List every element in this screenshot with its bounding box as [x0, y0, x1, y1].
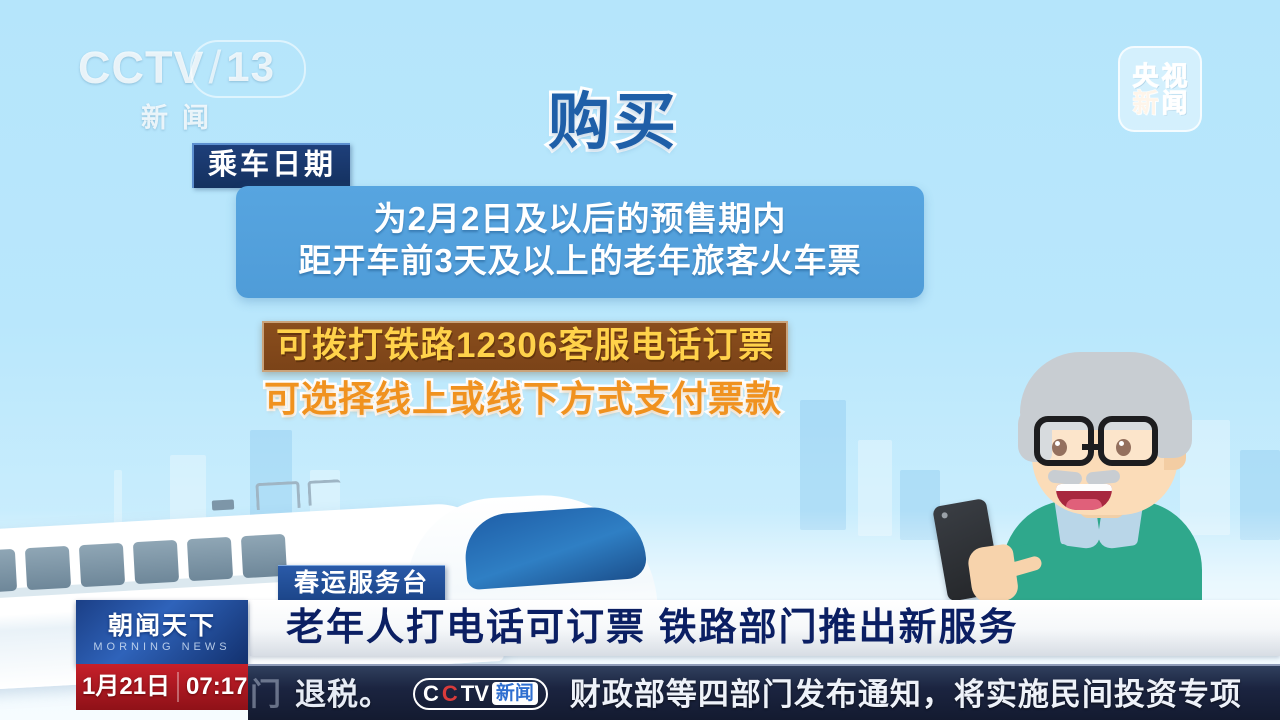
- headline-bar: 老年人打电话可订票 铁路部门推出新服务: [250, 600, 1280, 656]
- ticker-logo-c1: C: [423, 683, 439, 705]
- train-window: [133, 540, 179, 584]
- watermark-line-2: 新 闻: [1132, 90, 1187, 116]
- ticker-logo-c2: C: [442, 683, 458, 705]
- cctv13-slash-icon: /: [209, 44, 223, 90]
- elderly-man-illustration: [940, 345, 1240, 610]
- cctv13-logo: CCTV / 13 新闻: [78, 44, 278, 142]
- glasses-icon: [1034, 416, 1094, 466]
- glasses-icon: [1098, 416, 1158, 466]
- cctv-news-watermark: 央 视 新 闻: [1118, 46, 1202, 132]
- headline-text: 老年人打电话可订票 铁路部门推出新服务: [250, 609, 1019, 647]
- train-window: [79, 543, 125, 587]
- ticker-partial-char: 门: [248, 679, 281, 710]
- ticker-logo-tv: TV: [461, 683, 489, 705]
- segment-badge: 春运服务台: [278, 565, 445, 603]
- broadcast-time: 07:17: [186, 675, 247, 699]
- cctv-wordmark: CCTV: [78, 45, 205, 90]
- ticker-logo-news-cn: 新闻: [492, 682, 538, 705]
- cctv13-sub-label: 新闻: [78, 96, 278, 135]
- program-logo: 朝闻天下 MORNING NEWS: [76, 600, 248, 666]
- train-pantograph: [307, 479, 341, 506]
- train-roof-box: [212, 499, 234, 510]
- cctv13-logo-pill: [190, 40, 306, 98]
- hotline-highlight-bar: 可拨打铁路12306客服电话订票: [262, 321, 788, 372]
- graphic-big-title: 购买: [548, 92, 680, 154]
- train-window: [187, 537, 233, 581]
- ticker-prefix-text: 退税。: [281, 679, 391, 710]
- broadcast-screen: CCTV / 13 新闻 央 视 新 闻 购买 乘车日期 为2月2日及以后的预售…: [0, 0, 1280, 720]
- datetime-separator: [177, 672, 179, 702]
- train-window: [25, 546, 71, 590]
- ticker-cctv-news-logo: C C TV 新闻: [413, 678, 548, 710]
- ticker-body-text: 财政部等四部门发布通知，将实施民间投资专项: [570, 679, 1242, 710]
- broadcast-date: 1月21日: [76, 675, 170, 699]
- train-windshield: [463, 504, 648, 590]
- train-window: [0, 549, 17, 593]
- watermark-char-wen: 闻: [1162, 90, 1188, 116]
- program-name-cn: 朝闻天下: [108, 614, 216, 639]
- watermark-char-yang: 央: [1132, 63, 1158, 89]
- news-ticker: 门 退税。 C C TV 新闻 财政部等四部门发布通知，将实施民间投资专项: [248, 664, 1280, 720]
- info-panel-line-1: 为2月2日及以后的预售期内: [256, 198, 904, 240]
- payment-highlight-text: 可选择线上或线下方式支付票款: [264, 381, 782, 417]
- datetime-bar: 1月21日 07:17: [76, 664, 248, 710]
- travel-date-badge: 乘车日期: [192, 143, 350, 188]
- info-panel: 为2月2日及以后的预售期内 距开车前3天及以上的老年旅客火车票: [236, 186, 924, 298]
- glasses-bridge: [1082, 444, 1100, 450]
- man-hair-side-right: [1156, 400, 1192, 458]
- watermark-line-1: 央 视: [1132, 63, 1187, 89]
- watermark-char-shi: 视: [1162, 63, 1188, 89]
- train-pantograph: [255, 481, 300, 510]
- watermark-char-xin: 新: [1132, 90, 1158, 116]
- info-panel-line-2: 距开车前3天及以上的老年旅客火车票: [256, 240, 904, 282]
- program-name-en: MORNING NEWS: [93, 642, 230, 653]
